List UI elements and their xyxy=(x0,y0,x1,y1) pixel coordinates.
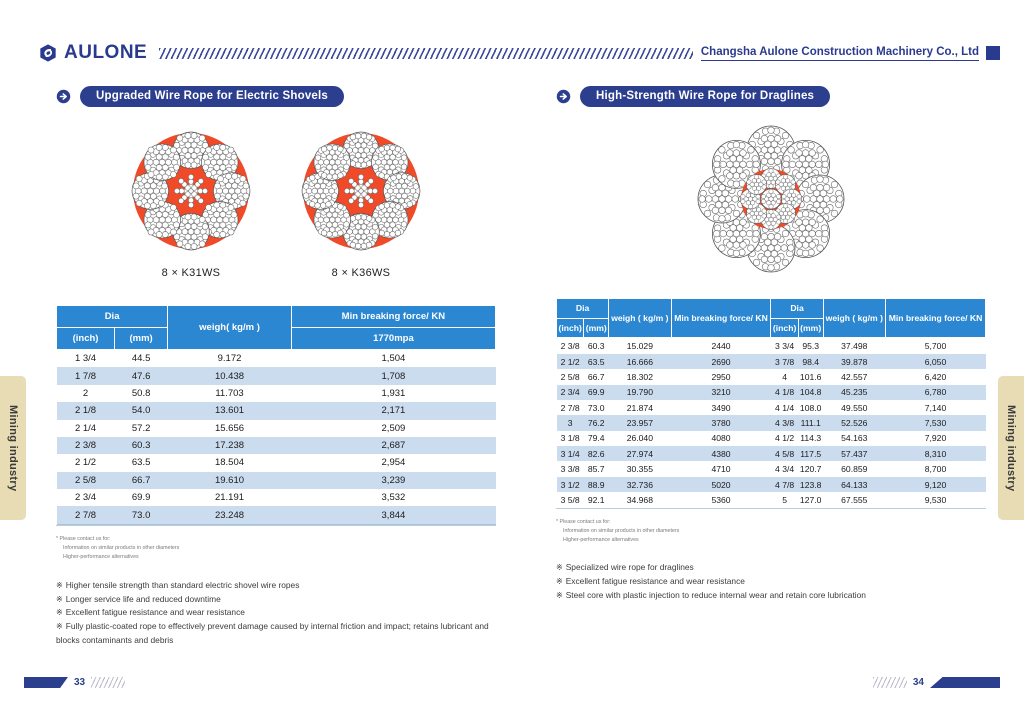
table-cell: 92.1 xyxy=(584,492,609,507)
table-cell: 39.878 xyxy=(823,354,885,369)
right-th-inch-a: (inch) xyxy=(557,318,584,338)
table-cell: 6,050 xyxy=(886,354,986,369)
feature-bullet: ※Steel core with plastic injection to re… xyxy=(556,589,986,603)
page-number-left: 33 xyxy=(24,677,125,688)
table-cell: 3 3/8 xyxy=(557,461,584,476)
table-row: 3 3/885.730.35547104 3/4120.760.8598,700 xyxy=(557,461,986,476)
table-cell: 82.6 xyxy=(584,446,609,461)
dragline-wire-rope-cross-section-diagram xyxy=(696,124,846,274)
table-row: 3 1/288.932.73650204 7/8123.864.1339,120 xyxy=(557,477,986,492)
table-cell: 60.3 xyxy=(584,338,609,354)
left-table-underline xyxy=(56,525,496,526)
table-cell: 5360 xyxy=(671,492,771,507)
page-hatch-right xyxy=(873,677,907,688)
left-th-weigh: weigh( kg/m ) xyxy=(168,306,292,350)
brand-logo: AULONE xyxy=(38,42,147,64)
table-cell: 7,140 xyxy=(886,400,986,415)
table-row: 2 1/263.518.5042,954 xyxy=(57,454,496,471)
right-th-dia-a: Dia xyxy=(557,299,609,319)
feature-bullet: ※Fully plastic-coated rope to effectivel… xyxy=(56,620,496,648)
figure-label-2: 8 × K36WS xyxy=(300,267,422,279)
table-cell: 4 3/4 xyxy=(771,461,798,476)
table-cell: 3,532 xyxy=(291,489,495,506)
table-row: 2 1/457.215.6562,509 xyxy=(57,420,496,437)
left-table-head: Dia weigh( kg/m ) Min breaking force/ KN… xyxy=(57,306,496,350)
table-cell: 54.0 xyxy=(115,402,168,419)
table-cell: 108.0 xyxy=(798,400,823,415)
table-cell: 67.555 xyxy=(823,492,885,507)
table-row: 2 7/873.023.2483,844 xyxy=(57,506,496,524)
right-footnote-line2: Information on similar products in other… xyxy=(556,527,986,536)
table-row: 2 3/860.315.02924403 3/495.337.4985,700 xyxy=(557,338,986,354)
right-th-dia-b: Dia xyxy=(771,299,823,319)
table-cell: 34.968 xyxy=(609,492,671,507)
table-cell: 63.5 xyxy=(584,354,609,369)
left-footnote-line3: Higher-performance alternatives xyxy=(56,553,496,562)
table-cell: 21.874 xyxy=(609,400,671,415)
table-row: 2 1/263.516.66626903 7/898.439.8786,050 xyxy=(557,354,986,369)
table-cell: 64.133 xyxy=(823,477,885,492)
table-cell: 3780 xyxy=(671,415,771,430)
table-cell: 98.4 xyxy=(798,354,823,369)
right-footnote-line3: Higher-performance alternatives xyxy=(556,536,986,545)
wire-rope-cross-section-diagram xyxy=(300,130,422,252)
table-cell: 2 3/8 xyxy=(557,338,584,354)
bullet-marker-icon: ※ xyxy=(56,608,63,617)
table-cell: 5 xyxy=(771,492,798,507)
right-th-mm-a: (mm) xyxy=(584,318,609,338)
table-cell: 37.498 xyxy=(823,338,885,354)
circle-arrow-right-icon xyxy=(56,89,71,104)
left-th-dia: Dia xyxy=(57,306,168,328)
table-cell: 3 1/8 xyxy=(557,431,584,446)
figure-k36ws: 8 × K36WS xyxy=(300,130,422,279)
table-cell: 5,700 xyxy=(886,338,986,354)
table-row: 2 5/866.719.6103,239 xyxy=(57,472,496,489)
feature-bullet: ※Excellent fatigue resistance and wear r… xyxy=(556,575,986,589)
header-square-accent xyxy=(986,46,1000,60)
table-row: 376.223.95737804 3/8111.152.5267,530 xyxy=(557,415,986,430)
table-cell: 3 xyxy=(557,415,584,430)
table-cell: 4080 xyxy=(671,431,771,446)
left-feature-bullets: ※Higher tensile strength than standard e… xyxy=(56,579,496,648)
table-cell: 2 5/8 xyxy=(557,369,584,384)
table-cell: 15.029 xyxy=(609,338,671,354)
table-row: 250.811.7031,931 xyxy=(57,385,496,402)
right-table-header-row-1: Dia weigh ( kg/m ) Min breaking force/ K… xyxy=(557,299,986,319)
right-feature-bullets: ※Specialized wire rope for draglines※Exc… xyxy=(556,561,986,603)
table-row: 2 5/866.718.30229504101.642.5576,420 xyxy=(557,369,986,384)
table-cell: 1 3/4 xyxy=(57,350,115,368)
table-cell: 114.3 xyxy=(798,431,823,446)
table-row: 2 3/860.317.2382,687 xyxy=(57,437,496,454)
table-cell: 50.8 xyxy=(115,385,168,402)
table-cell: 2950 xyxy=(671,369,771,384)
table-cell: 45.235 xyxy=(823,385,885,400)
right-th-mbf-a: Min breaking force/ KN xyxy=(671,299,771,338)
table-cell: 19.790 xyxy=(609,385,671,400)
table-cell: 2690 xyxy=(671,354,771,369)
table-cell: 4 xyxy=(771,369,798,384)
right-table-underline xyxy=(556,508,986,509)
table-cell: 18.504 xyxy=(168,454,292,471)
table-cell: 127.0 xyxy=(798,492,823,507)
bullet-marker-icon: ※ xyxy=(556,577,563,586)
right-product-section: High-Strength Wire Rope for Draglines xyxy=(556,86,986,603)
table-cell: 2 3/4 xyxy=(557,385,584,400)
left-section-title: Upgraded Wire Rope for Electric Shovels xyxy=(56,86,496,106)
table-cell: 2 7/8 xyxy=(57,506,115,524)
table-cell: 26.040 xyxy=(609,431,671,446)
table-cell: 5020 xyxy=(671,477,771,492)
table-cell: 2 1/2 xyxy=(57,454,115,471)
right-spec-table-wrap: Dia weigh ( kg/m ) Min breaking force/ K… xyxy=(556,298,986,509)
table-cell: 42.557 xyxy=(823,369,885,384)
asterisk-icon: * xyxy=(556,519,558,525)
table-cell: 7,920 xyxy=(886,431,986,446)
table-cell: 44.5 xyxy=(115,350,168,368)
bullet-marker-icon: ※ xyxy=(556,563,563,572)
right-section-title: High-Strength Wire Rope for Draglines xyxy=(556,86,986,106)
page-bar-left xyxy=(24,677,68,688)
table-cell: 79.4 xyxy=(584,431,609,446)
bullet-marker-icon: ※ xyxy=(56,622,63,631)
table-cell: 9,530 xyxy=(886,492,986,507)
table-cell: 1,931 xyxy=(291,385,495,402)
table-cell: 54.163 xyxy=(823,431,885,446)
table-cell: 73.0 xyxy=(115,506,168,524)
table-cell: 2 xyxy=(57,385,115,402)
page-bar-right xyxy=(930,677,1000,688)
table-cell: 3210 xyxy=(671,385,771,400)
table-cell: 18.302 xyxy=(609,369,671,384)
left-product-section: Upgraded Wire Rope for Electric Shovels xyxy=(56,86,496,648)
right-spec-table: Dia weigh ( kg/m ) Min breaking force/ K… xyxy=(556,298,986,508)
table-cell: 63.5 xyxy=(115,454,168,471)
bullet-marker-icon: ※ xyxy=(56,595,63,604)
right-th-inch-b: (inch) xyxy=(771,318,798,338)
table-cell: 4 7/8 xyxy=(771,477,798,492)
table-cell: 4 1/4 xyxy=(771,400,798,415)
table-cell: 1,708 xyxy=(291,367,495,384)
table-row: 3 1/879.426.04040804 1/2114.354.1637,920 xyxy=(557,431,986,446)
table-row: 3 1/482.627.97443804 5/8117.557.4378,310 xyxy=(557,446,986,461)
page-header: AULONE Changsha Aulone Construction Mach… xyxy=(0,38,1024,68)
table-cell: 3,844 xyxy=(291,506,495,524)
table-cell: 60.3 xyxy=(115,437,168,454)
table-cell: 4 1/2 xyxy=(771,431,798,446)
bullet-marker-icon: ※ xyxy=(56,581,63,590)
page-number-right: 34 xyxy=(873,677,1000,688)
feature-bullet: ※Longer service life and reduced downtim… xyxy=(56,593,496,607)
table-cell: 8,700 xyxy=(886,461,986,476)
table-cell: 57.437 xyxy=(823,446,885,461)
side-tab-label-right: Mining industry xyxy=(1005,405,1017,491)
table-cell: 2440 xyxy=(671,338,771,354)
table-cell: 4 1/8 xyxy=(771,385,798,400)
table-cell: 4 3/8 xyxy=(771,415,798,430)
table-cell: 2 1/8 xyxy=(57,402,115,419)
table-cell: 2 1/4 xyxy=(57,420,115,437)
page-number-right-label: 34 xyxy=(913,677,924,688)
table-cell: 117.5 xyxy=(798,446,823,461)
table-cell: 2 5/8 xyxy=(57,472,115,489)
page-number-left-label: 33 xyxy=(74,677,85,688)
table-cell: 69.9 xyxy=(584,385,609,400)
table-cell: 2 3/8 xyxy=(57,437,115,454)
table-cell: 10.438 xyxy=(168,367,292,384)
right-section-title-label: High-Strength Wire Rope for Draglines xyxy=(580,86,830,107)
left-footnote-line1: * Please contact us for: xyxy=(56,535,496,544)
table-cell: 13.601 xyxy=(168,402,292,419)
left-spec-table: Dia weigh( kg/m ) Min breaking force/ KN… xyxy=(56,305,496,525)
table-cell: 17.238 xyxy=(168,437,292,454)
table-cell: 1 7/8 xyxy=(57,367,115,384)
table-cell: 3 7/8 xyxy=(771,354,798,369)
table-cell: 32.736 xyxy=(609,477,671,492)
feature-bullet: ※Excellent fatigue resistance and wear r… xyxy=(56,606,496,620)
table-cell: 52.526 xyxy=(823,415,885,430)
table-cell: 85.7 xyxy=(584,461,609,476)
table-cell: 6,780 xyxy=(886,385,986,400)
table-cell: 2 7/8 xyxy=(557,400,584,415)
table-cell: 73.0 xyxy=(584,400,609,415)
table-cell: 9,120 xyxy=(886,477,986,492)
table-cell: 19.610 xyxy=(168,472,292,489)
table-cell: 7,530 xyxy=(886,415,986,430)
table-cell: 23.957 xyxy=(609,415,671,430)
company-name: Changsha Aulone Construction Machinery C… xyxy=(701,46,979,61)
left-table-body: 1 3/444.59.1721,5041 7/847.610.4381,7082… xyxy=(57,350,496,525)
left-spec-table-wrap: Dia weigh( kg/m ) Min breaking force/ KN… xyxy=(56,305,496,526)
side-tab-mining-industry-left: Mining industry xyxy=(0,376,26,520)
right-th-weigh-b: weigh ( kg/m ) xyxy=(823,299,885,338)
table-cell: 2,687 xyxy=(291,437,495,454)
table-cell: 3 5/8 xyxy=(557,492,584,507)
table-cell: 2 1/2 xyxy=(557,354,584,369)
table-cell: 3 1/4 xyxy=(557,446,584,461)
table-row: 1 3/444.59.1721,504 xyxy=(57,350,496,368)
left-figures: 8 × K31WS xyxy=(56,130,496,279)
feature-bullet: ※Higher tensile strength than standard e… xyxy=(56,579,496,593)
asterisk-icon: * xyxy=(56,536,58,542)
table-cell: 2,954 xyxy=(291,454,495,471)
table-cell: 95.3 xyxy=(798,338,823,354)
table-cell: 4 5/8 xyxy=(771,446,798,461)
left-th-mpa: 1770mpa xyxy=(291,328,495,350)
table-cell: 16.666 xyxy=(609,354,671,369)
table-cell: 1,504 xyxy=(291,350,495,368)
right-footnote: * Please contact us for: Information on … xyxy=(556,518,986,546)
table-cell: 101.6 xyxy=(798,369,823,384)
left-footnote-line2: Information on similar products in other… xyxy=(56,544,496,553)
left-th-inch: (inch) xyxy=(57,328,115,350)
table-cell: 66.7 xyxy=(584,369,609,384)
left-table-header-row-1: Dia weigh( kg/m ) Min breaking force/ KN xyxy=(57,306,496,328)
table-cell: 30.355 xyxy=(609,461,671,476)
table-cell: 123.8 xyxy=(798,477,823,492)
feature-bullet: ※Specialized wire rope for draglines xyxy=(556,561,986,575)
wire-rope-cross-section-diagram xyxy=(130,130,252,252)
catalog-page: AULONE Changsha Aulone Construction Mach… xyxy=(0,0,1024,724)
table-cell: 3490 xyxy=(671,400,771,415)
header-hatch-divider xyxy=(159,48,693,59)
table-cell: 2,171 xyxy=(291,402,495,419)
table-cell: 3 1/2 xyxy=(557,477,584,492)
left-th-mbf: Min breaking force/ KN xyxy=(291,306,495,328)
table-cell: 66.7 xyxy=(115,472,168,489)
right-table-head: Dia weigh ( kg/m ) Min breaking force/ K… xyxy=(557,299,986,338)
side-tab-label-left: Mining industry xyxy=(7,405,19,491)
table-cell: 6,420 xyxy=(886,369,986,384)
table-cell: 21.191 xyxy=(168,489,292,506)
table-cell: 23.248 xyxy=(168,506,292,524)
right-figure xyxy=(556,124,986,274)
table-row: 2 3/469.919.79032104 1/8104.845.2356,780 xyxy=(557,385,986,400)
table-cell: 3 3/4 xyxy=(771,338,798,354)
page-hatch-left xyxy=(91,677,125,688)
table-cell: 3,239 xyxy=(291,472,495,489)
right-footnote-line1: * Please contact us for: xyxy=(556,518,986,527)
table-row: 3 5/892.134.96853605127.067.5559,530 xyxy=(557,492,986,507)
table-cell: 2,509 xyxy=(291,420,495,437)
table-row: 1 7/847.610.4381,708 xyxy=(57,367,496,384)
circle-arrow-right-icon xyxy=(556,89,571,104)
table-cell: 4380 xyxy=(671,446,771,461)
side-tab-mining-industry-right: Mining industry xyxy=(998,376,1024,520)
table-cell: 4710 xyxy=(671,461,771,476)
left-footnote: * Please contact us for: Information on … xyxy=(56,535,496,563)
table-cell: 88.9 xyxy=(584,477,609,492)
left-th-mm: (mm) xyxy=(115,328,168,350)
table-cell: 11.703 xyxy=(168,385,292,402)
table-row: 2 7/873.021.87434904 1/4108.049.5507,140 xyxy=(557,400,986,415)
right-th-mbf-b: Min breaking force/ KN xyxy=(886,299,986,338)
table-cell: 2 3/4 xyxy=(57,489,115,506)
aulone-hexagon-logo-icon xyxy=(38,43,58,63)
table-cell: 120.7 xyxy=(798,461,823,476)
table-row: 2 3/469.921.1913,532 xyxy=(57,489,496,506)
table-cell: 49.550 xyxy=(823,400,885,415)
table-cell: 27.974 xyxy=(609,446,671,461)
table-row: 2 1/854.013.6012,171 xyxy=(57,402,496,419)
logo-text: AULONE xyxy=(64,42,147,64)
table-cell: 60.859 xyxy=(823,461,885,476)
right-table-body: 2 3/860.315.02924403 3/495.337.4985,7002… xyxy=(557,338,986,508)
right-th-mm-b: (mm) xyxy=(798,318,823,338)
table-cell: 8,310 xyxy=(886,446,986,461)
table-cell: 15.656 xyxy=(168,420,292,437)
bullet-marker-icon: ※ xyxy=(556,591,563,600)
figure-label-1: 8 × K31WS xyxy=(130,267,252,279)
table-cell: 47.6 xyxy=(115,367,168,384)
figure-k31ws: 8 × K31WS xyxy=(130,130,252,279)
right-th-weigh-a: weigh ( kg/m ) xyxy=(609,299,671,338)
table-cell: 57.2 xyxy=(115,420,168,437)
table-cell: 76.2 xyxy=(584,415,609,430)
table-cell: 104.8 xyxy=(798,385,823,400)
table-cell: 9.172 xyxy=(168,350,292,368)
left-section-title-label: Upgraded Wire Rope for Electric Shovels xyxy=(80,86,344,107)
table-cell: 111.1 xyxy=(798,415,823,430)
table-cell: 69.9 xyxy=(115,489,168,506)
